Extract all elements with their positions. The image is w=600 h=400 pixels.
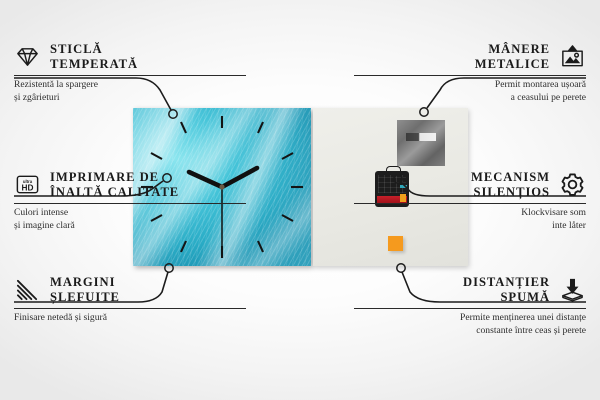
feature-glass-head: STICLĂ TEMPERATĂ — [14, 42, 246, 75]
feature-foam-head: DISTANȚIER SPUMĂ — [354, 275, 586, 308]
feature-edges: MARGINI ȘLEFUITE Finisare netedă și sigu… — [14, 275, 246, 325]
feature-foam-desc: Permite menținerea unei distanțe constan… — [354, 309, 586, 338]
feature-print: ultra HD IMPRIMARE DE ÎNALTĂ CALITATE Cu… — [14, 170, 246, 233]
feature-mechanism-head: MECANISM SILENȚIOS — [354, 170, 586, 203]
feature-foam-title: DISTANȚIER SPUMĂ — [463, 275, 550, 305]
polished-edge-icon — [14, 276, 41, 303]
feature-hooks-title: MÂNERE METALICE — [475, 42, 550, 72]
feature-print-desc: Culori intense și imagine clară — [14, 204, 246, 233]
ultra-hd-badge-icon: ultra HD — [14, 171, 41, 198]
infographic-canvas: STICLĂ TEMPERATĂ Rezistentă la spargere … — [0, 0, 600, 400]
feature-hooks-desc: Permit montarea ușoară a ceasului pe per… — [354, 76, 586, 105]
feature-mechanism-desc: Klockvisare som inte låter — [354, 204, 586, 233]
feature-mechanism-title: MECANISM SILENȚIOS — [471, 170, 550, 200]
foam-spacer — [388, 236, 403, 251]
feature-glass-desc: Rezistentă la spargere și zgârieturi — [14, 76, 246, 105]
hanger-slot — [406, 133, 436, 141]
feature-edges-desc: Finisare netedă și sigură — [14, 309, 246, 325]
picture-frame-hanging-icon — [559, 43, 586, 70]
feature-print-head: ultra HD IMPRIMARE DE ÎNALTĂ CALITATE — [14, 170, 246, 203]
feature-hooks: MÂNERE METALICE Permit montarea ușoară a… — [354, 42, 586, 105]
feature-foam: DISTANȚIER SPUMĂ Permite menținerea unei… — [354, 275, 586, 338]
feature-glass-title: STICLĂ TEMPERATĂ — [50, 42, 138, 72]
feature-glass: STICLĂ TEMPERATĂ Rezistentă la spargere … — [14, 42, 246, 105]
feature-edges-head: MARGINI ȘLEFUITE — [14, 275, 246, 308]
arrow-down-onto-pad-icon — [559, 276, 586, 303]
feature-hooks-head: MÂNERE METALICE — [354, 42, 586, 75]
feature-print-title: IMPRIMARE DE ÎNALTĂ CALITATE — [50, 170, 179, 200]
metal-hanger-plate — [397, 120, 445, 166]
svg-text:HD: HD — [22, 183, 34, 193]
feature-mechanism: MECANISM SILENȚIOS Klockvisare som inte … — [354, 170, 586, 233]
feature-edges-title: MARGINI ȘLEFUITE — [50, 275, 120, 305]
diamond-icon — [14, 43, 41, 70]
gear-icon — [559, 171, 586, 198]
